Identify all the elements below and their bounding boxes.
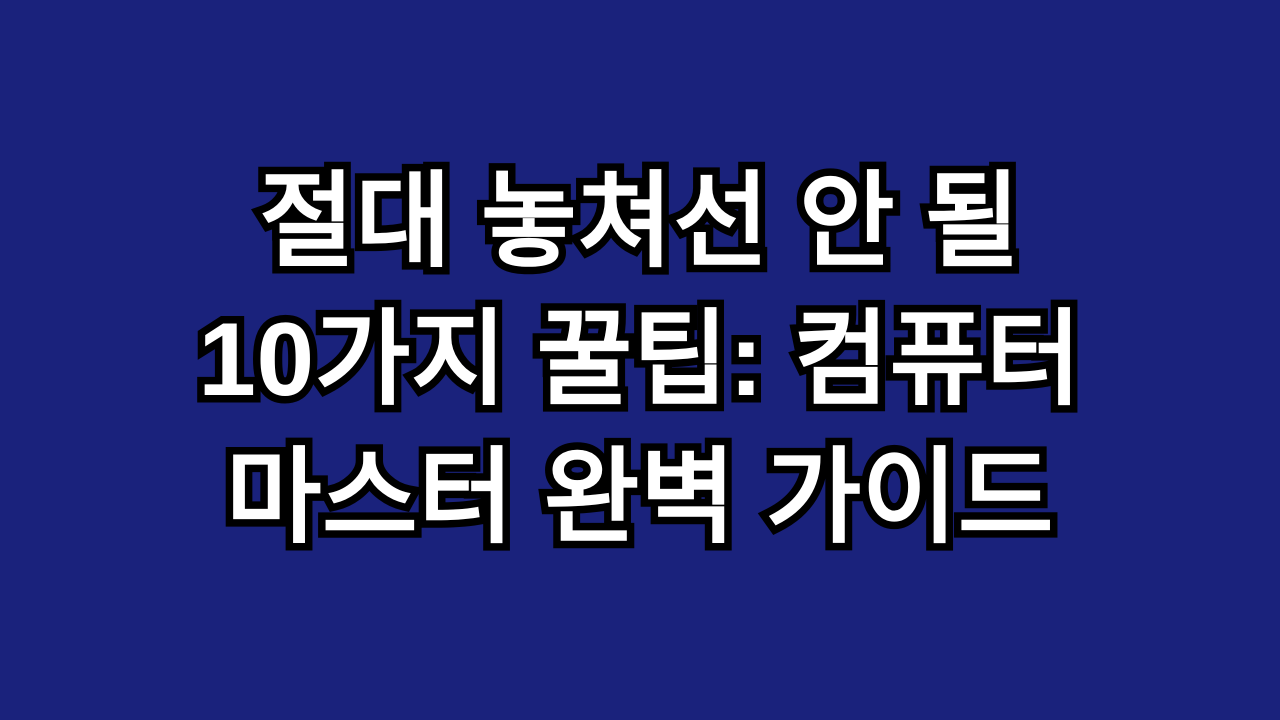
headline-line-1: 절대 놓쳐선 안 될 [24, 153, 1256, 291]
headline-line-2: 10가지 꿀팁: 컴퓨터 [24, 291, 1256, 429]
headline-line-3: 마스터 완벽 가이드 [24, 429, 1256, 567]
headline-text-block: 절대 놓쳐선 안 될 10가지 꿀팁: 컴퓨터 마스터 완벽 가이드 [0, 153, 1280, 567]
thumbnail-canvas: 절대 놓쳐선 안 될 10가지 꿀팁: 컴퓨터 마스터 완벽 가이드 [0, 0, 1280, 720]
